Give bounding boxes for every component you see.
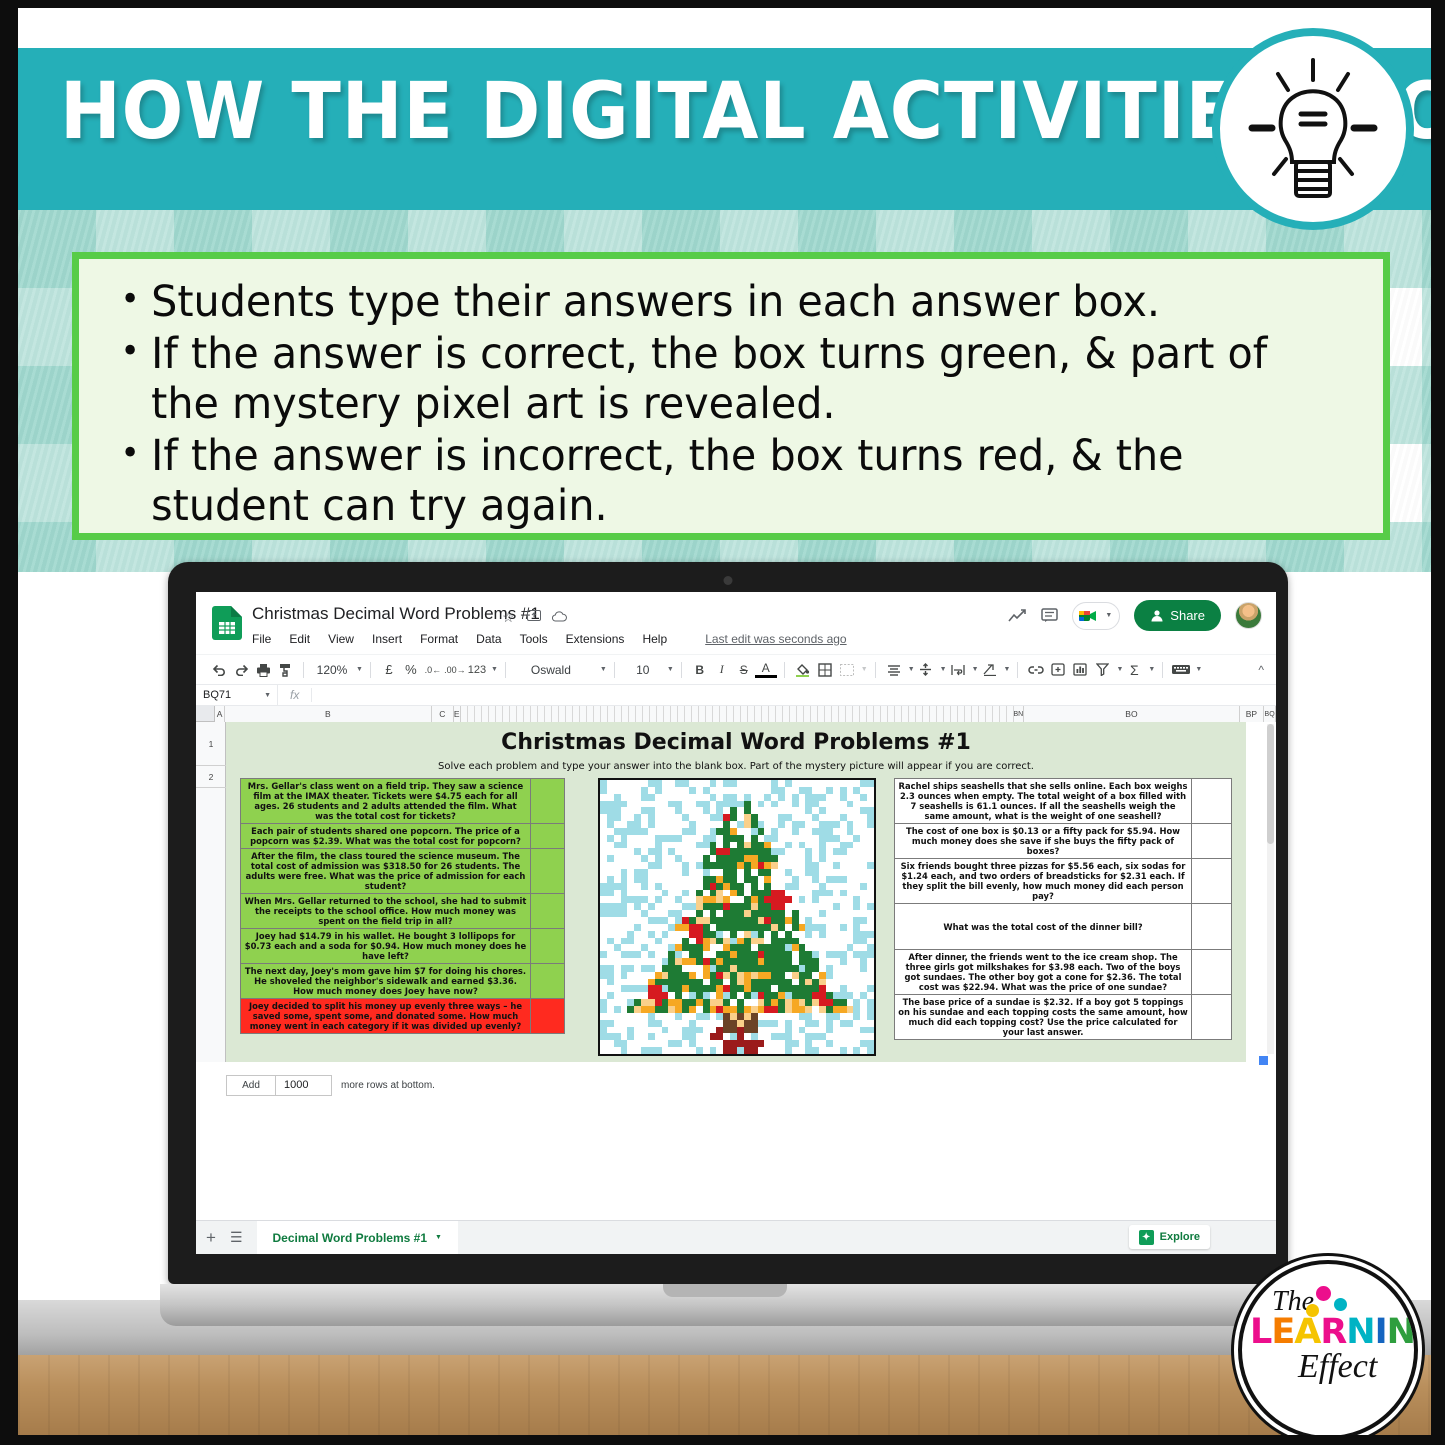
column-header-narrow[interactable] xyxy=(706,706,713,722)
column-header-narrow[interactable] xyxy=(937,706,944,722)
toolbar-divider xyxy=(784,662,785,678)
menu-edit[interactable]: Edit xyxy=(289,632,310,646)
column-header-narrow[interactable] xyxy=(657,706,664,722)
currency-format-icon[interactable]: £ xyxy=(378,658,400,682)
avatar[interactable] xyxy=(1235,602,1262,629)
table-row: Joey decided to split his money up evenl… xyxy=(240,998,565,1034)
name-box-value: BQ71 xyxy=(203,689,231,701)
sheet-tab-label: Decimal Word Problems #1 xyxy=(273,1231,428,1245)
explore-icon: ✦ xyxy=(1139,1230,1154,1245)
list-item: Students type their answers in each answ… xyxy=(107,277,1307,327)
formatting-toolbar: 120% ▼ £ % .0← .00→ 123 ▼ Oswald ▼ 10 xyxy=(196,654,1276,684)
fx-icon: fx xyxy=(278,688,312,702)
filter-icon[interactable] xyxy=(1091,658,1113,682)
redo-icon[interactable] xyxy=(230,658,252,682)
column-header-narrow[interactable] xyxy=(636,706,643,722)
left-problem-column: Mrs. Gellar's class went on a field trip… xyxy=(240,778,565,1034)
column-header-BO[interactable]: BO xyxy=(1024,706,1239,722)
answer-input[interactable] xyxy=(1191,950,1231,994)
column-header-narrow[interactable] xyxy=(517,706,524,722)
menu-file[interactable]: File xyxy=(252,632,271,646)
column-header-narrow[interactable] xyxy=(930,706,937,722)
column-header-narrow[interactable] xyxy=(874,706,881,722)
document-title[interactable]: Christmas Decimal Word Problems #1 xyxy=(252,604,540,624)
column-header-narrow[interactable] xyxy=(853,706,860,722)
print-icon[interactable] xyxy=(252,658,274,682)
table-row: After dinner, the friends went to the ic… xyxy=(894,949,1232,994)
paint-format-icon[interactable] xyxy=(274,658,296,682)
column-header-narrow[interactable] xyxy=(468,706,475,722)
column-header-narrow[interactable] xyxy=(762,706,769,722)
add-rows-input[interactable]: 1000 xyxy=(276,1075,332,1096)
laptop-lid: Christmas Decimal Word Problems #1 ☆ Fil… xyxy=(168,562,1288,1284)
column-header-B[interactable]: B xyxy=(225,706,432,722)
add-rows-bar: Add 1000 more rows at bottom. xyxy=(226,1070,1246,1100)
poster-border-left xyxy=(0,0,18,1445)
vertical-align-icon[interactable] xyxy=(915,658,937,682)
answer-input[interactable] xyxy=(530,964,564,998)
chevron-down-icon: ▼ xyxy=(861,666,868,673)
answer-input[interactable] xyxy=(530,849,564,893)
column-header-narrow[interactable] xyxy=(734,706,741,722)
horizontal-align-icon[interactable] xyxy=(883,658,905,682)
table-row: After the film, the class toured the sci… xyxy=(240,848,565,893)
answer-input[interactable] xyxy=(530,894,564,928)
strikethrough-icon[interactable]: S xyxy=(733,658,755,682)
column-header-narrow[interactable] xyxy=(811,706,818,722)
question-text: The base price of a sundae is $2.32. If … xyxy=(895,995,1191,1039)
comment-icon[interactable] xyxy=(1041,608,1058,624)
wood-desk-background xyxy=(18,1355,1431,1435)
column-header-narrow[interactable] xyxy=(685,706,692,722)
answer-input[interactable] xyxy=(1191,859,1231,903)
row-headers: 1 2 xyxy=(196,722,226,1062)
zoom-level[interactable]: 120% xyxy=(311,659,353,681)
chevron-down-icon[interactable]: ▼ xyxy=(600,666,607,673)
column-header-narrow[interactable] xyxy=(902,706,909,722)
table-row: Six friends bought three pizzas for $5.5… xyxy=(894,858,1232,903)
menu-view[interactable]: View xyxy=(328,632,354,646)
table-row: What was the total cost of the dinner bi… xyxy=(894,903,1232,949)
table-row: The cost of one box is $0.13 or a fifty … xyxy=(894,823,1232,858)
poster-border-bottom xyxy=(0,1435,1445,1445)
question-text: Joey had $14.79 in his wallet. He bought… xyxy=(241,929,530,963)
column-header-narrow[interactable] xyxy=(510,706,517,722)
menu-data[interactable]: Data xyxy=(476,632,501,646)
column-header-narrow[interactable] xyxy=(503,706,510,722)
column-header-narrow[interactable] xyxy=(496,706,503,722)
collapse-toolbar-icon[interactable]: ^ xyxy=(1258,663,1264,677)
sheet-heading: Christmas Decimal Word Problems #1 xyxy=(226,722,1246,755)
gear-icon xyxy=(1306,1304,1319,1317)
text-color-icon[interactable]: A xyxy=(755,661,777,678)
answer-input[interactable] xyxy=(1191,904,1231,949)
column-header-narrow[interactable] xyxy=(923,706,930,722)
fill-handle[interactable] xyxy=(1259,1056,1268,1065)
column-header-narrow[interactable] xyxy=(797,706,804,722)
column-header-narrow[interactable] xyxy=(839,706,846,722)
chevron-down-icon[interactable]: ▼ xyxy=(435,1234,442,1241)
increase-decimal-icon[interactable]: .00→ xyxy=(444,658,466,682)
toolbar-divider xyxy=(303,662,304,678)
column-header-narrow[interactable] xyxy=(727,706,734,722)
laptop-screen: Christmas Decimal Word Problems #1 ☆ Fil… xyxy=(196,592,1276,1254)
toolbar-divider xyxy=(1017,662,1018,678)
select-all-corner[interactable] xyxy=(196,706,215,721)
table-row: Mrs. Gellar's class went on a field trip… xyxy=(240,778,565,823)
vertical-scrollbar[interactable] xyxy=(1267,724,1274,1054)
spreadsheet-grid: Christmas Decimal Word Problems #1 Solve… xyxy=(226,722,1246,1062)
trends-icon[interactable] xyxy=(1008,609,1027,623)
toolbar-divider xyxy=(1162,662,1163,678)
row-header-2[interactable]: 2 xyxy=(196,766,226,788)
question-text: Mrs. Gellar's class went on a field trip… xyxy=(241,779,530,823)
list-item: If the answer is incorrect, the box turn… xyxy=(107,431,1307,531)
column-header-narrow[interactable] xyxy=(538,706,545,722)
menu-bar: File Edit View Insert Format Data Tools … xyxy=(252,632,847,646)
answer-input[interactable] xyxy=(1191,779,1231,823)
question-text: After the film, the class toured the sci… xyxy=(241,849,530,893)
text-rotation-icon[interactable] xyxy=(979,658,1001,682)
column-header-narrow[interactable] xyxy=(489,706,496,722)
column-header-narrow[interactable] xyxy=(979,706,986,722)
question-text: When Mrs. Gellar returned to the school,… xyxy=(241,894,530,928)
share-label: Share xyxy=(1170,608,1205,623)
column-header-narrow[interactable] xyxy=(482,706,489,722)
poster-page: HOW THE DIGITAL ACTIVITIES WORK xyxy=(0,0,1445,1445)
column-header-narrow[interactable] xyxy=(741,706,748,722)
column-header-narrow[interactable] xyxy=(552,706,559,722)
column-header-BP[interactable]: BP xyxy=(1240,706,1265,722)
italic-icon[interactable]: I xyxy=(711,658,733,682)
input-tools-icon[interactable] xyxy=(1170,658,1192,682)
font-name-selector[interactable]: Oswald xyxy=(513,659,597,681)
question-text: What was the total cost of the dinner bi… xyxy=(895,904,1191,949)
insert-link-icon[interactable] xyxy=(1025,658,1047,682)
question-text: The next day, Joey's mom gave him $7 for… xyxy=(241,964,530,998)
column-header-narrow[interactable] xyxy=(958,706,965,722)
list-item: If the answer is correct, the box turns … xyxy=(107,329,1307,429)
answer-input[interactable] xyxy=(530,999,564,1033)
explore-button[interactable]: ✦ Explore xyxy=(1129,1225,1210,1249)
lightbulb-icon xyxy=(1212,28,1414,230)
bold-icon[interactable]: B xyxy=(689,658,711,682)
font-size-selector[interactable]: 10 xyxy=(622,659,664,681)
functions-icon[interactable]: Σ xyxy=(1123,658,1145,682)
column-header-narrow[interactable] xyxy=(559,706,566,722)
merge-cells-icon xyxy=(836,658,858,682)
column-header-narrow[interactable] xyxy=(580,706,587,722)
menu-insert[interactable]: Insert xyxy=(372,632,402,646)
menu-help[interactable]: Help xyxy=(642,632,667,646)
chevron-down-icon[interactable]: ▼ xyxy=(1148,666,1155,673)
menu-tools[interactable]: Tools xyxy=(520,632,548,646)
column-header-narrow[interactable] xyxy=(972,706,979,722)
column-header-narrow[interactable] xyxy=(608,706,615,722)
column-header-narrow[interactable] xyxy=(846,706,853,722)
column-header-narrow[interactable] xyxy=(566,706,573,722)
chevron-down-icon[interactable]: ▼ xyxy=(1116,666,1123,673)
sheet-tab-decimal-word-problems[interactable]: Decimal Word Problems #1 ▼ xyxy=(257,1221,458,1255)
column-header-narrow[interactable] xyxy=(944,706,951,722)
column-header-BN[interactable]: BN xyxy=(1014,706,1025,722)
column-headers: A B C E BN BO BP BQ xyxy=(196,706,1276,722)
logo-line-learning: LEARNING xyxy=(1250,1312,1418,1352)
toolbar-divider xyxy=(505,662,506,678)
question-text: After dinner, the friends went to the ic… xyxy=(895,950,1191,994)
table-row: When Mrs. Gellar returned to the school,… xyxy=(240,893,565,928)
answer-input[interactable] xyxy=(530,779,564,823)
text-wrapping-icon[interactable] xyxy=(947,658,969,682)
column-header-E[interactable]: E xyxy=(454,706,461,722)
table-row: The base price of a sundae is $2.32. If … xyxy=(894,994,1232,1040)
column-header-narrow[interactable] xyxy=(916,706,923,722)
column-header-narrow[interactable] xyxy=(825,706,832,722)
insert-comment-icon[interactable] xyxy=(1047,658,1069,682)
column-header-narrow[interactable] xyxy=(643,706,650,722)
laptop-mockup: Christmas Decimal Word Problems #1 ☆ Fil… xyxy=(160,562,1290,1322)
problem-area: Mrs. Gellar's class went on a field trip… xyxy=(226,778,1246,1058)
table-row: Each pair of students shared one popcorn… xyxy=(240,823,565,848)
christmas-tree-mystery-pixel-art xyxy=(598,778,876,1056)
move-to-folder-icon[interactable] xyxy=(527,609,541,625)
answer-input[interactable] xyxy=(530,824,564,848)
sheet-subheading: Solve each problem and type your answer … xyxy=(226,755,1246,772)
formula-bar: BQ71 ▼ fx xyxy=(196,684,1276,706)
column-header-narrow[interactable] xyxy=(867,706,874,722)
column-header-narrow[interactable] xyxy=(783,706,790,722)
column-header-narrow[interactable] xyxy=(860,706,867,722)
chevron-down-icon[interactable]: ▼ xyxy=(264,692,271,699)
star-icon[interactable]: ☆ xyxy=(502,609,515,626)
chevron-down-icon[interactable]: ▼ xyxy=(667,666,674,673)
row-header-1[interactable]: 1 xyxy=(196,722,226,766)
column-header-narrow[interactable] xyxy=(895,706,902,722)
fill-color-icon[interactable] xyxy=(792,658,814,682)
column-header-narrow[interactable] xyxy=(615,706,622,722)
add-sheet-icon[interactable]: + xyxy=(206,1228,216,1248)
column-header-narrow[interactable] xyxy=(678,706,685,722)
column-header-narrow[interactable] xyxy=(1000,706,1007,722)
column-header-narrow[interactable] xyxy=(664,706,671,722)
add-rows-label: more rows at bottom. xyxy=(341,1080,435,1091)
column-header-narrow[interactable] xyxy=(671,706,678,722)
chevron-down-icon[interactable]: ▼ xyxy=(1004,666,1011,673)
instructions-card: Students type their answers in each answ… xyxy=(72,252,1390,540)
answer-input[interactable] xyxy=(530,929,564,963)
toolbar-divider xyxy=(681,662,682,678)
column-header-narrow[interactable] xyxy=(622,706,629,722)
toolbar-divider xyxy=(370,662,371,678)
column-header-narrow[interactable] xyxy=(804,706,811,722)
brand-logo: The LEARNING Effect xyxy=(1238,1260,1418,1440)
toolbar-divider xyxy=(614,662,615,678)
column-header-narrow[interactable] xyxy=(986,706,993,722)
column-header-narrow[interactable] xyxy=(594,706,601,722)
table-row: Rachel ships seashells that she sells on… xyxy=(894,778,1232,823)
column-header-narrow[interactable] xyxy=(1007,706,1014,722)
insert-chart-icon[interactable] xyxy=(1069,658,1091,682)
explore-label: Explore xyxy=(1160,1231,1200,1243)
chevron-down-icon[interactable]: ▼ xyxy=(1105,612,1112,619)
google-meet-button[interactable]: ▼ xyxy=(1072,602,1120,630)
cloud-saved-icon[interactable] xyxy=(552,609,567,625)
chevron-down-icon[interactable]: ▼ xyxy=(356,666,363,673)
chevron-down-icon[interactable]: ▼ xyxy=(908,666,915,673)
column-header-narrow[interactable] xyxy=(888,706,895,722)
laptop-notch xyxy=(663,1284,787,1297)
google-sheets-app: Christmas Decimal Word Problems #1 ☆ Fil… xyxy=(196,592,1276,1254)
all-sheets-icon[interactable]: ☰ xyxy=(230,1229,243,1246)
column-header-narrow[interactable] xyxy=(965,706,972,722)
column-header-narrow[interactable] xyxy=(776,706,783,722)
question-text: Each pair of students shared one popcorn… xyxy=(241,824,530,848)
menu-extensions[interactable]: Extensions xyxy=(566,632,625,646)
question-text: The cost of one box is $0.13 or a fifty … xyxy=(895,824,1191,858)
question-text: Joey decided to split his money up evenl… xyxy=(241,999,530,1033)
question-text: Six friends bought three pizzas for $5.5… xyxy=(895,859,1191,903)
column-header-narrow[interactable] xyxy=(951,706,958,722)
gear-icon xyxy=(1316,1286,1331,1301)
column-header-narrow[interactable] xyxy=(993,706,1000,722)
table-row: The next day, Joey's mom gave him $7 for… xyxy=(240,963,565,998)
instructions-list: Students type their answers in each answ… xyxy=(107,277,1357,531)
column-header-narrow[interactable] xyxy=(573,706,580,722)
chevron-down-icon[interactable]: ▼ xyxy=(491,666,498,673)
menu-format[interactable]: Format xyxy=(420,632,458,646)
column-header-narrow[interactable] xyxy=(461,706,468,722)
answer-input[interactable] xyxy=(1191,824,1231,858)
name-box[interactable]: BQ71 ▼ xyxy=(196,685,278,706)
borders-icon[interactable] xyxy=(814,658,836,682)
chevron-down-icon[interactable]: ▼ xyxy=(1195,666,1202,673)
gear-icon xyxy=(1334,1298,1347,1311)
column-header-narrow[interactable] xyxy=(587,706,594,722)
answer-input[interactable] xyxy=(1191,995,1231,1039)
percent-format-icon[interactable]: % xyxy=(400,658,422,682)
sheet-tab-bar: + ☰ Decimal Word Problems #1 ▼ ✦ Explore xyxy=(196,1220,1276,1254)
add-rows-button[interactable]: Add xyxy=(226,1075,276,1096)
table-row: Joey had $14.79 in his wallet. He bought… xyxy=(240,928,565,963)
undo-icon[interactable] xyxy=(208,658,230,682)
column-header-narrow[interactable] xyxy=(818,706,825,722)
column-header-narrow[interactable] xyxy=(629,706,636,722)
title-bar-actions: ▼ Share xyxy=(1008,600,1262,631)
column-header-narrow[interactable] xyxy=(881,706,888,722)
google-sheets-logo-icon xyxy=(212,606,242,640)
poster-border-top xyxy=(0,0,1445,8)
column-header-narrow[interactable] xyxy=(790,706,797,722)
narrow-columns-strip xyxy=(461,706,1014,721)
column-header-narrow[interactable] xyxy=(755,706,762,722)
column-header-C[interactable]: C xyxy=(432,706,454,722)
last-edit-status[interactable]: Last edit was seconds ago xyxy=(705,632,846,646)
column-header-narrow[interactable] xyxy=(748,706,755,722)
column-header-BQ[interactable]: BQ xyxy=(1264,706,1276,722)
column-header-narrow[interactable] xyxy=(832,706,839,722)
column-header-A[interactable]: A xyxy=(215,706,224,722)
poster-border-right xyxy=(1431,0,1445,1445)
webcam-icon xyxy=(724,576,733,585)
column-header-narrow[interactable] xyxy=(475,706,482,722)
logo-line-effect: Effect xyxy=(1298,1348,1377,1386)
sheets-title-bar: Christmas Decimal Word Problems #1 ☆ Fil… xyxy=(196,592,1276,654)
column-header-narrow[interactable] xyxy=(545,706,552,722)
more-formats-icon[interactable]: 123 xyxy=(466,658,488,682)
column-header-narrow[interactable] xyxy=(720,706,727,722)
decrease-decimal-icon[interactable]: .0← xyxy=(422,658,444,682)
share-button[interactable]: Share xyxy=(1134,600,1221,631)
column-header-narrow[interactable] xyxy=(713,706,720,722)
column-header-narrow[interactable] xyxy=(601,706,608,722)
right-problem-column: Rachel ships seashells that she sells on… xyxy=(894,778,1232,1040)
chevron-down-icon[interactable]: ▼ xyxy=(972,666,979,673)
column-header-narrow[interactable] xyxy=(699,706,706,722)
column-header-narrow[interactable] xyxy=(531,706,538,722)
question-text: Rachel ships seashells that she sells on… xyxy=(895,779,1191,823)
column-header-narrow[interactable] xyxy=(650,706,657,722)
toolbar-divider xyxy=(875,662,876,678)
column-header-narrow[interactable] xyxy=(909,706,916,722)
column-header-narrow[interactable] xyxy=(692,706,699,722)
chevron-down-icon[interactable]: ▼ xyxy=(940,666,947,673)
column-header-narrow[interactable] xyxy=(524,706,531,722)
column-header-narrow[interactable] xyxy=(769,706,776,722)
